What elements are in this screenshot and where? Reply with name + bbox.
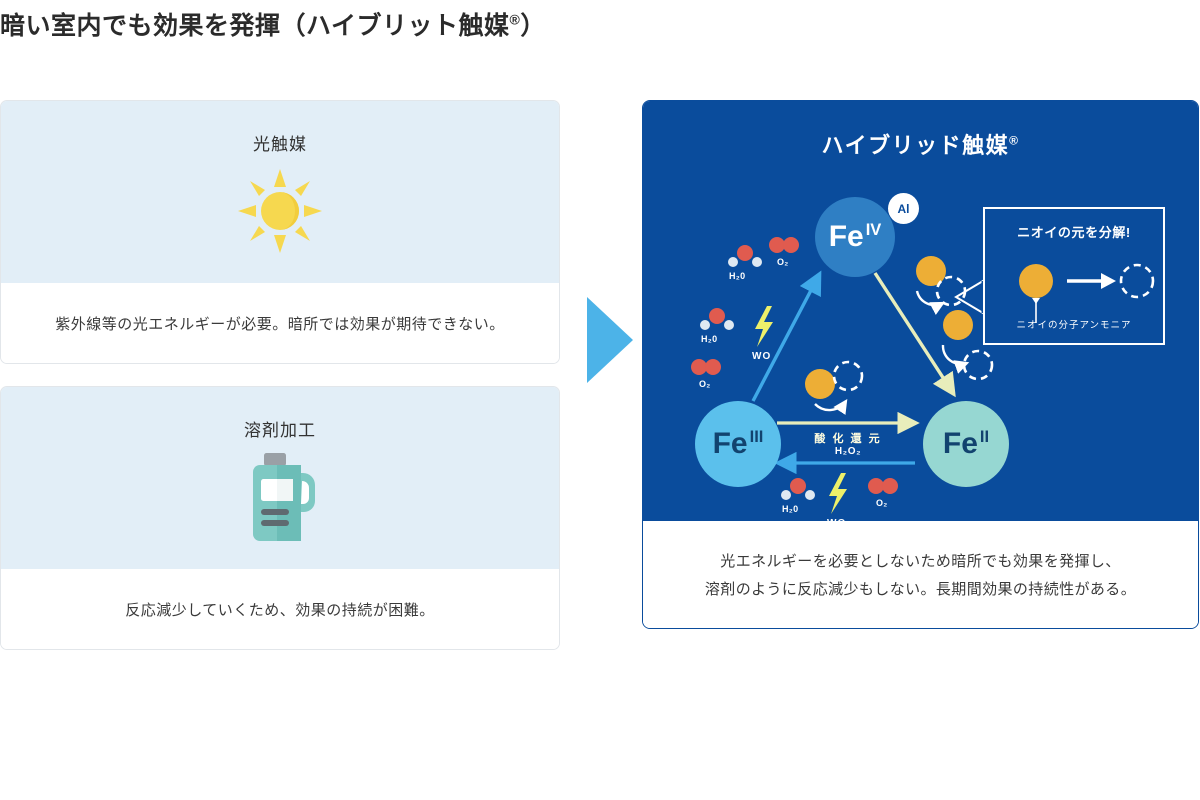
hybrid-catalyst-caption-line2: 溶剤のように反応減少もしない。長期間効果の持続性がある。 [705, 576, 1136, 604]
node-fe4-roman: IV [866, 221, 882, 239]
molecule-o2-bottom [868, 478, 898, 494]
molecule-o2-left [691, 359, 721, 375]
card-solvent-caption: 反応減少していくため、効果の持続が困難。 [1, 569, 559, 649]
card-solvent-media: 溶剤加工 [1, 387, 559, 569]
molecule-o2-top [769, 237, 799, 253]
card-photocatalyst: 光触媒 紫外線等の光エ [0, 100, 560, 364]
card-photocatalyst-heading: 光触媒 [253, 130, 307, 155]
label-wo-bottom: WO [827, 518, 846, 529]
hybrid-catalyst-caption-line1: 光エネルギーを必要としないため暗所でも効果を発揮し、 [720, 548, 1120, 576]
node-fe2-label: Fe [943, 427, 978, 460]
hybrid-catalyst-caption: 光エネルギーを必要としないため暗所でも効果を発揮し、 溶剤のように反応減少もしな… [643, 521, 1198, 629]
label-o2-top: O₂ [777, 257, 789, 267]
callout-footnote: ニオイの分子アンモニア [985, 317, 1163, 331]
label-o2-left: O₂ [699, 379, 711, 389]
page-title-tail: ） [520, 12, 546, 40]
node-fe3-label: Fe [713, 427, 748, 460]
label-h2o-bottom: H₂0 [782, 504, 798, 514]
label-wo-left: WO [752, 351, 771, 362]
molecule-h2o-mid [700, 308, 734, 330]
molecule-h2o-top [728, 245, 762, 267]
node-fe2: FeII [923, 401, 1009, 487]
node-fe3-roman: III [750, 428, 764, 446]
node-fe2-roman: II [980, 428, 989, 446]
right-triangle-arrow-icon [585, 295, 635, 385]
registered-mark-icon: ® [510, 12, 521, 28]
badge-al: Al [888, 193, 919, 224]
label-h2o-mid: H₂0 [701, 334, 717, 344]
card-photocatalyst-media: 光触媒 [1, 101, 559, 283]
card-photocatalyst-caption: 紫外線等の光エネルギーが必要。暗所では効果が期待できない。 [1, 283, 559, 363]
label-h2o-top: H₂0 [729, 271, 745, 281]
card-solvent-heading: 溶剤加工 [244, 416, 316, 441]
molecule-h2o-bottom [781, 478, 815, 500]
label-o2-bottom: O₂ [876, 498, 888, 508]
label-redox: 酸 化 還 元 [793, 430, 903, 446]
lightning-bolt-icon-bottom [829, 473, 847, 514]
node-fe3: FeIII [695, 401, 781, 487]
label-redox-sub: H₂O₂ [793, 446, 903, 457]
page-title: 暗い室内でも効果を発揮（ハイブリット触媒®） [0, 6, 546, 42]
odor-decompose-callout: ニオイの元を分解! ニオイの分子アンモニア [983, 207, 1165, 345]
hybrid-catalyst-diagram-area: ハイブリッド触媒® [643, 101, 1198, 521]
left-column: 光触媒 紫外線等の光エ [0, 100, 562, 672]
hybrid-catalyst-panel: ハイブリッド触媒® [642, 100, 1199, 629]
callout-title: ニオイの元を分解! [985, 222, 1163, 241]
sun-icon [234, 163, 326, 259]
transition-arrow [585, 295, 635, 385]
page-title-text: 暗い室内でも効果を発揮（ハイブリット触媒 [0, 12, 510, 40]
lightning-bolt-icon-left [755, 306, 773, 347]
odor-decompose-group-3 [805, 362, 862, 410]
card-solvent: 溶剤加工 反応減少していくため、効果の持続が困難。 [0, 386, 560, 650]
solvent-jug-icon [239, 449, 321, 545]
node-fe4-label: Fe [829, 220, 864, 253]
node-fe4: FeIV [815, 197, 895, 277]
badge-al-label: Al [898, 202, 910, 216]
